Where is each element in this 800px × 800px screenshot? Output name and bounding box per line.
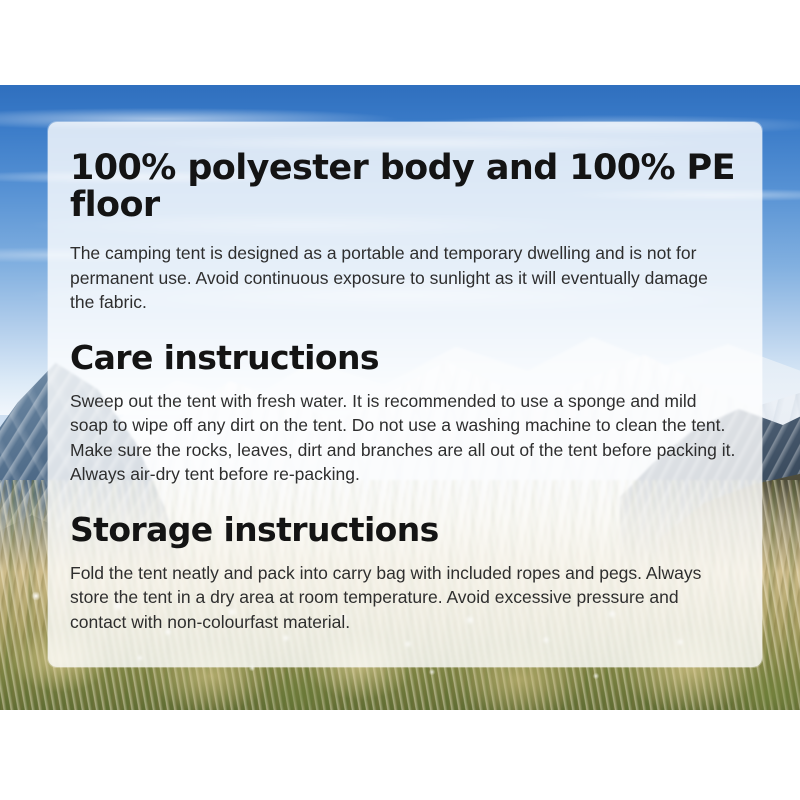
spacer (70, 376, 736, 389)
information-card: 100% polyester body and 100% PE floor Th… (48, 122, 762, 667)
spacer (70, 487, 736, 513)
spacer (70, 315, 736, 341)
care-instructions-heading: Care instructions (70, 341, 736, 376)
spacer (70, 548, 736, 561)
spacer (70, 224, 736, 241)
storage-instructions-heading: Storage instructions (70, 513, 736, 548)
storage-instructions-body: Fold the tent neatly and pack into carry… (70, 561, 736, 635)
care-instructions-body: Sweep out the tent with fresh water. It … (70, 389, 736, 487)
panel-title: 100% polyester body and 100% PE floor (70, 150, 736, 224)
poster-canvas: 100% polyester body and 100% PE floor Th… (0, 0, 800, 800)
intro-paragraph: The camping tent is designed as a portab… (70, 241, 736, 315)
